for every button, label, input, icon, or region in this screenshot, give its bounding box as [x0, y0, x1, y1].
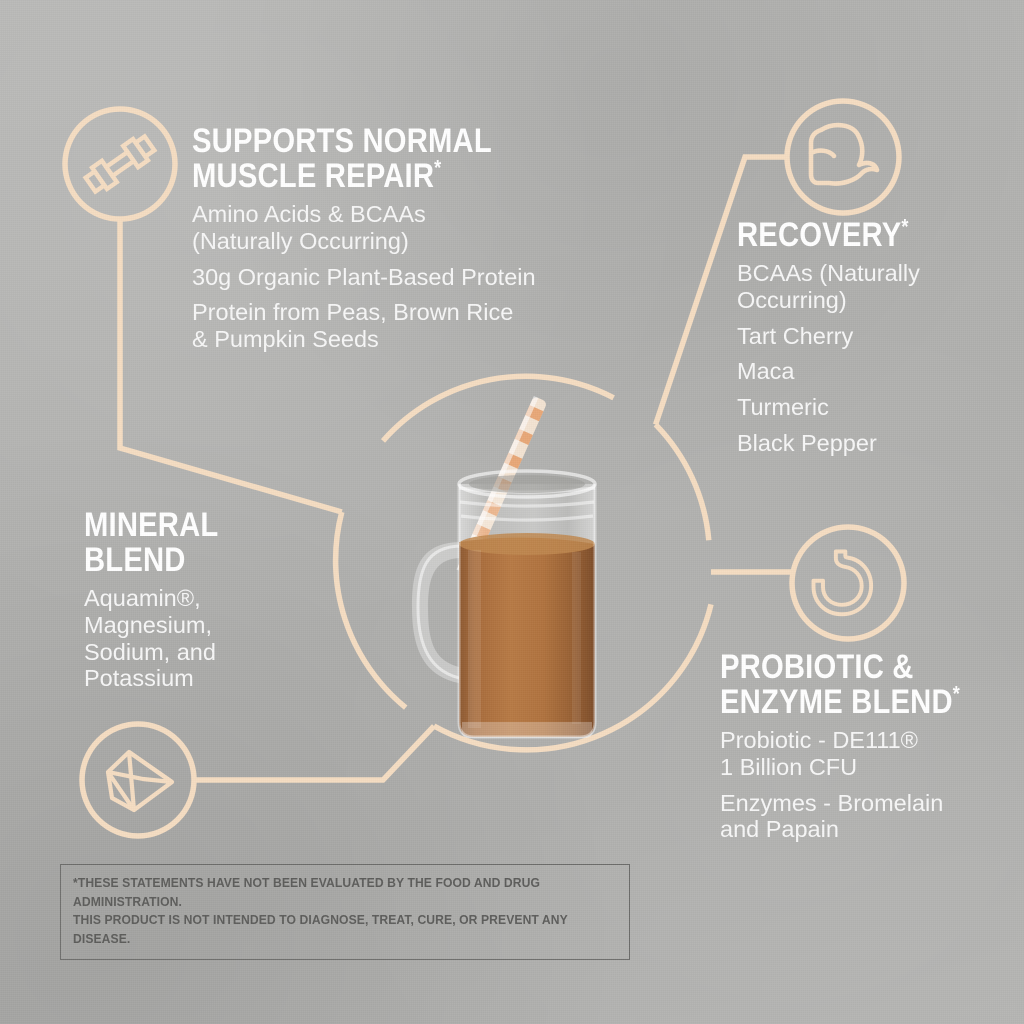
- block-recovery-line-3: Turmeric: [737, 394, 1017, 421]
- jar-base: [462, 722, 592, 738]
- block-recovery-line-1: Tart Cherry: [737, 323, 1017, 350]
- fda-disclaimer-text: *THESE STATEMENTS HAVE NOT BEEN EVALUATE…: [73, 874, 575, 949]
- stomach-icon: [814, 551, 872, 614]
- dumbbell-icon-ring: [65, 109, 175, 219]
- block-muscle-repair-line-2: Protein from Peas, Brown Rice & Pumpkin …: [192, 299, 592, 353]
- block-probiotic-enzyme-line-0: Probiotic - DE111® 1 Billion CFU: [720, 727, 1020, 781]
- block-recovery-line-0: BCAAs (Naturally Occurring): [737, 260, 1017, 314]
- block-mineral-blend: MINERAL BLEND Aquamin®, Magnesium, Sodiu…: [84, 508, 324, 692]
- infographic-canvas: SUPPORTS NORMAL MUSCLE REPAIR* Amino Aci…: [0, 0, 1024, 1024]
- block-recovery: RECOVERY* BCAAs (Naturally Occurring) Ta…: [737, 218, 1017, 457]
- block-recovery-line-4: Black Pepper: [737, 430, 1017, 457]
- block-recovery-heading: RECOVERY*: [737, 218, 978, 253]
- block-muscle-repair-line-0: Amino Acids & BCAAs (Naturally Occurring…: [192, 201, 592, 255]
- block-muscle-repair-heading: SUPPORTS NORMAL MUSCLE REPAIR*: [192, 124, 536, 194]
- block-mineral-blend-heading: MINERAL BLEND: [84, 508, 290, 578]
- asterisk-marker: *: [434, 157, 441, 180]
- block-probiotic-enzyme-line-1: Enzymes - Bromelain and Papain: [720, 790, 1020, 844]
- dumbbell-icon: [83, 133, 157, 196]
- product-image: [402, 392, 652, 760]
- bicep-icon: [811, 125, 877, 183]
- block-recovery-line-2: Maca: [737, 358, 1017, 385]
- block-probiotic-enzyme: PROBIOTIC & ENZYME BLEND* Probiotic - DE…: [720, 650, 1020, 843]
- fda-disclaimer-box: *THESE STATEMENTS HAVE NOT BEEN EVALUATE…: [60, 864, 630, 960]
- asterisk-marker: *: [953, 683, 960, 706]
- block-muscle-repair: SUPPORTS NORMAL MUSCLE REPAIR* Amino Aci…: [192, 124, 592, 353]
- center-ring-arc-left: [336, 512, 406, 708]
- block-probiotic-enzyme-heading: PROBIOTIC & ENZYME BLEND*: [720, 650, 978, 720]
- connector-mineral: [194, 726, 434, 780]
- jar-handle: [412, 542, 464, 684]
- bicep-icon-ring: [787, 101, 899, 213]
- stomach-icon-ring: [792, 527, 904, 639]
- block-muscle-repair-line-1: 30g Organic Plant-Based Protein: [192, 264, 592, 291]
- crystal-icon: [108, 752, 172, 810]
- asterisk-marker: *: [901, 216, 908, 239]
- block-mineral-blend-line-0: Aquamin®, Magnesium, Sodium, and Potassi…: [84, 585, 324, 692]
- center-ring-arc-right: [656, 425, 709, 541]
